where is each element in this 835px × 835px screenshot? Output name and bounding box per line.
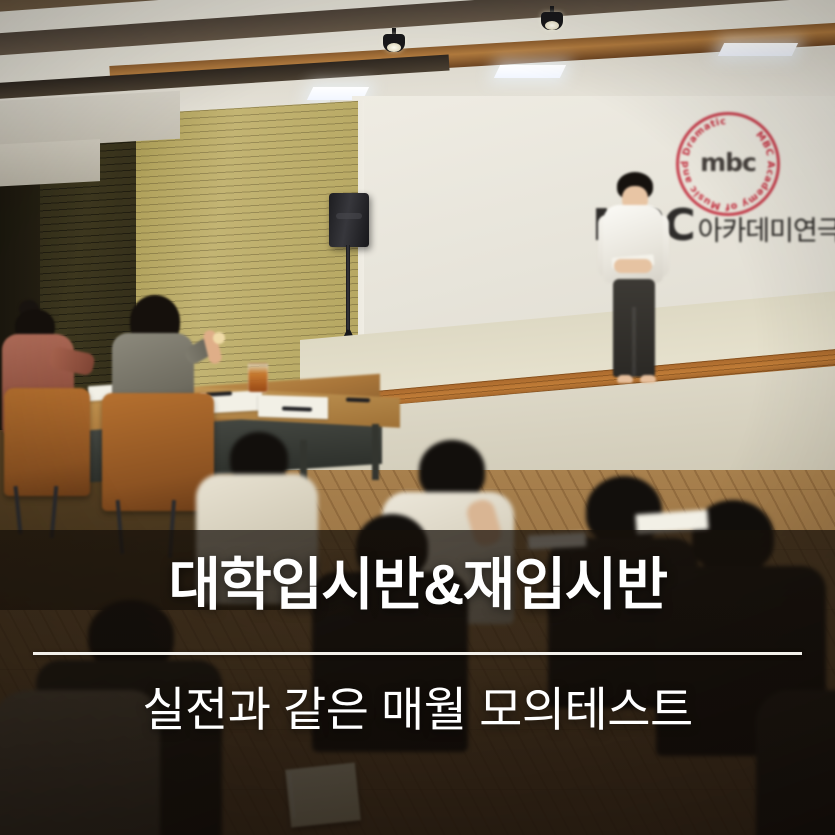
pen [346,398,370,403]
poster-headline: 대학입시반&재입시반 [0,552,835,618]
spotlight-icon [539,6,565,36]
table-leg [372,424,379,480]
drink-glass [248,363,268,393]
chair-back [4,388,90,496]
caption-divider [33,652,802,655]
ceiling-panel-light [718,43,798,56]
poster-subheadline: 실전과 같은 매월 모의테스트 [0,680,835,740]
performer-hands [614,259,652,273]
ceiling-panel-light [494,65,566,78]
audience-head [419,440,485,500]
wordmark-korean: 아카데미연극원 [698,214,835,248]
wall-soffit-lower [0,139,100,187]
speaker-stand-pole [346,245,350,335]
judge-hand [213,332,225,344]
mbc-academy-logo: MBC Academy of Music and Dramatic Art mb… [676,112,832,240]
spotlight-icon [381,28,407,58]
performer-foot [640,375,656,383]
performer-foot [617,375,633,383]
promo-poster: MBC Academy of Music and Dramatic Art mb… [0,0,835,835]
performer-trousers [613,279,655,377]
pa-speaker [329,193,369,247]
logo-mbc-text: mbc [692,148,764,178]
